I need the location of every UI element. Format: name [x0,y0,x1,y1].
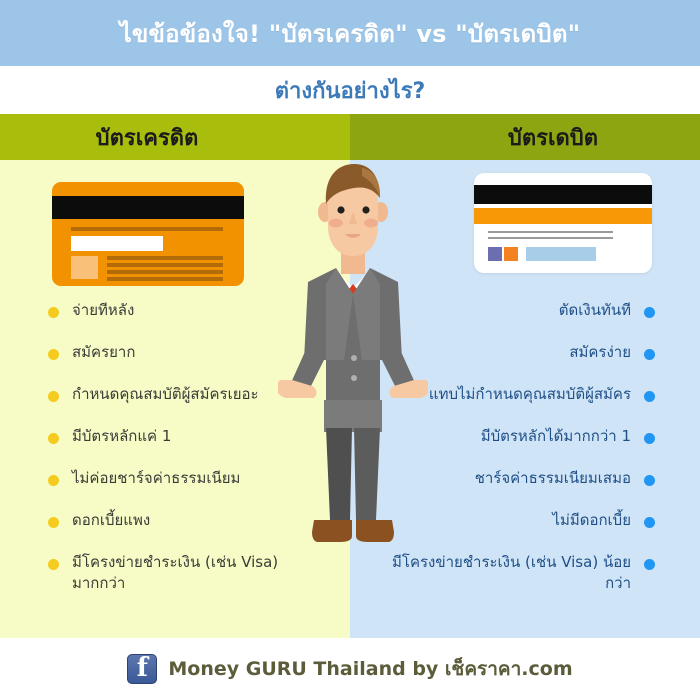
left-shoe [312,520,352,542]
debit-card-orange-band [474,208,652,224]
debit-card-line [488,231,613,233]
bullet-icon [48,517,59,528]
bullet-icon [644,307,655,318]
right-cheek [364,219,378,228]
businessman-figure [278,160,428,570]
credit-card-line [107,263,223,267]
facebook-icon[interactable]: f [127,654,157,684]
left-trouser [326,428,352,520]
credit-card-chip [71,256,98,279]
debit-card-info-bar [526,247,596,261]
jacket-button [351,355,357,361]
debit-card-logo-square-orange [504,247,518,261]
jacket-hem [324,400,382,432]
credit-card-line [107,270,223,274]
page-title: ไขข้อข้องใจ! "บัตรเครดิต" vs "บัตรเดบิต" [120,14,581,53]
credit-card-line [107,277,223,281]
debit-card-magnetic-stripe [474,185,652,204]
column-header-debit: บัตรเดบิต [350,114,700,160]
column-header-credit-label: บัตรเครดิต [96,120,199,155]
left-cheek [329,219,343,228]
bullet-icon [644,433,655,444]
bullet-icon [644,349,655,360]
bullet-icon [644,517,655,528]
infographic-page: ไขข้อข้องใจ! "บัตรเครดิต" vs "บัตรเดบิต"… [0,0,700,700]
jacket-button [351,375,357,381]
footer-bar: f Money GURU Thailand by เช็คราคา.com [0,638,700,700]
debit-card-graphic [474,173,652,273]
credit-card-magnetic-stripe [52,196,244,219]
credit-card-line [71,227,223,231]
column-header-credit: บัตรเครดิต [0,114,350,160]
bullet-icon [48,475,59,486]
left-eye [337,206,344,213]
right-shoe [356,520,394,542]
right-eye [362,206,369,213]
column-header-debit-label: บัตรเดบิต [508,120,598,155]
credit-card-line [107,256,223,260]
page-subtitle: ต่างกันอย่างไร? [275,73,426,108]
bullet-icon [644,391,655,402]
bullet-icon [644,559,655,570]
subtitle-band: ต่างกันอย่างไร? [0,66,700,114]
bullet-icon [48,307,59,318]
credit-card-signature-bar [71,236,163,251]
debit-card-line [488,237,613,239]
bullet-icon [48,433,59,444]
footer-brand-label: Money GURU Thailand by เช็คราคา.com [168,654,572,684]
right-trouser [354,428,380,520]
bullet-icon [48,349,59,360]
debit-card-logo-square-purple [488,247,502,261]
bullet-icon [48,559,59,570]
facebook-glyph: f [137,654,148,683]
bullet-icon [48,391,59,402]
credit-card-graphic [52,182,244,286]
title-band: ไขข้อข้องใจ! "บัตรเครดิต" vs "บัตรเดบิต" [0,0,700,66]
bullet-icon [644,475,655,486]
